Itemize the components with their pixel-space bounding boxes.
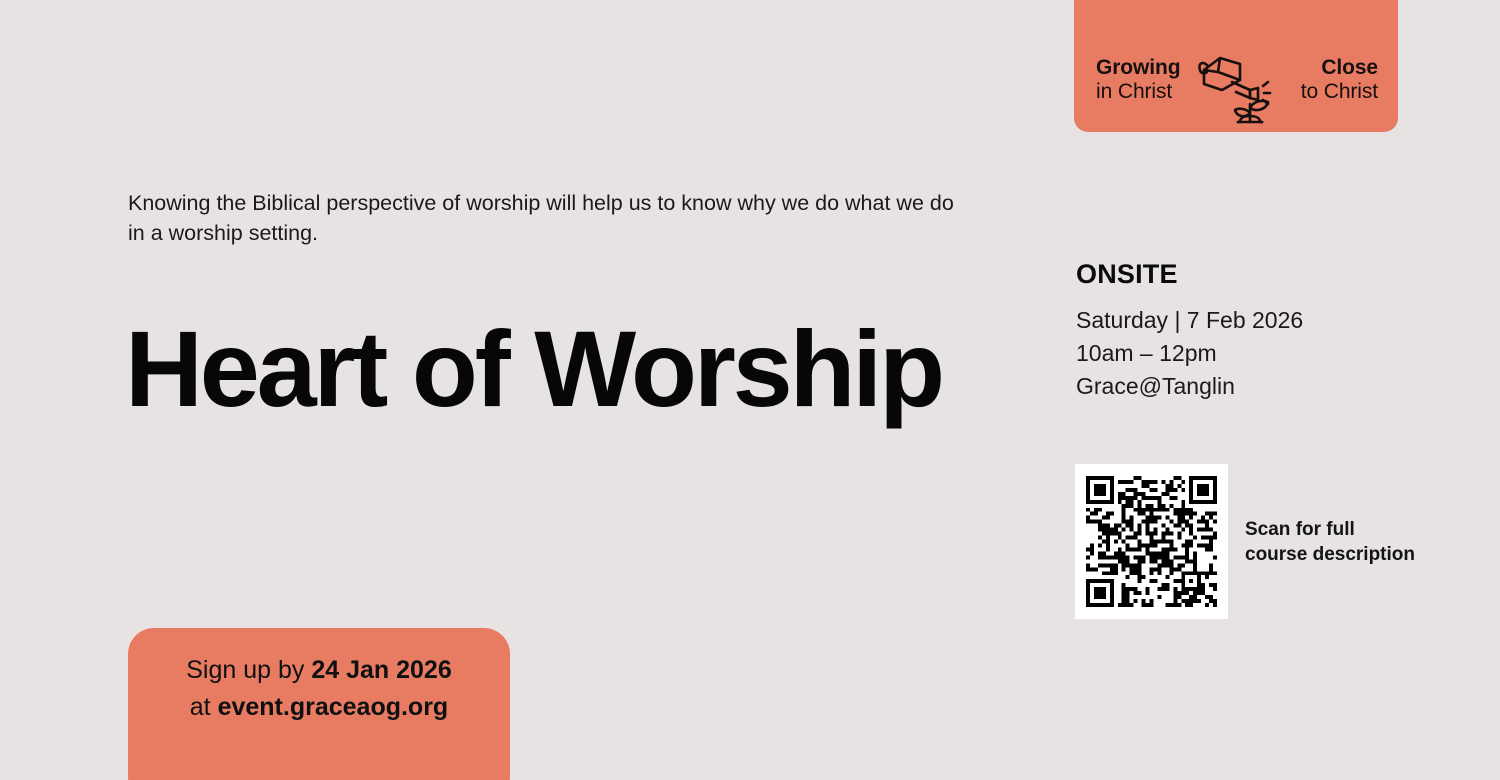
qr-caption: Scan for full course description xyxy=(1245,517,1415,567)
brand-logo-inner: Growing in Christ xyxy=(1074,56,1398,118)
signup-url-prefix: at xyxy=(190,693,218,721)
brand-in-christ-label: in Christ xyxy=(1096,80,1180,104)
signup-deadline-line: Sign up by 24 Jan 2026 xyxy=(128,652,510,689)
page-title: Heart of Worship xyxy=(125,315,942,423)
signup-deadline-date: 24 Jan 2026 xyxy=(311,656,451,684)
signup-url-line: at event.graceaog.org xyxy=(128,689,510,726)
event-details: ONSITE Saturday | 7 Feb 2026 10am – 12pm… xyxy=(1076,260,1456,403)
signup-card[interactable]: Sign up by 24 Jan 2026 at event.graceaog… xyxy=(128,628,510,780)
qr-code-icon[interactable] xyxy=(1075,464,1228,619)
brand-close-label: Close xyxy=(1301,56,1378,80)
brand-logo-card: Growing in Christ xyxy=(1074,0,1398,132)
watering-can-and-seedling-icon xyxy=(1188,50,1284,126)
brand-growing-label: Growing xyxy=(1096,56,1180,80)
course-description-text: Knowing the Biblical perspective of wors… xyxy=(128,188,958,248)
event-venue: Grace@Tanglin xyxy=(1076,370,1456,403)
brand-tagline-right: Close to Christ xyxy=(1301,56,1378,103)
event-date: Saturday | 7 Feb 2026 xyxy=(1076,304,1456,337)
event-time: 10am – 12pm xyxy=(1076,337,1456,370)
event-mode-label: ONSITE xyxy=(1076,260,1456,290)
poster-canvas: Growing in Christ xyxy=(0,0,1500,780)
qr-caption-line2: course description xyxy=(1245,542,1415,567)
qr-caption-line1: Scan for full xyxy=(1245,517,1415,542)
qr-block: Scan for full course description xyxy=(1075,464,1415,619)
signup-url[interactable]: event.graceaog.org xyxy=(218,693,449,721)
brand-tagline-left: Growing in Christ xyxy=(1096,56,1180,103)
brand-to-christ-label: to Christ xyxy=(1301,80,1378,104)
signup-deadline-prefix: Sign up by xyxy=(186,656,311,684)
